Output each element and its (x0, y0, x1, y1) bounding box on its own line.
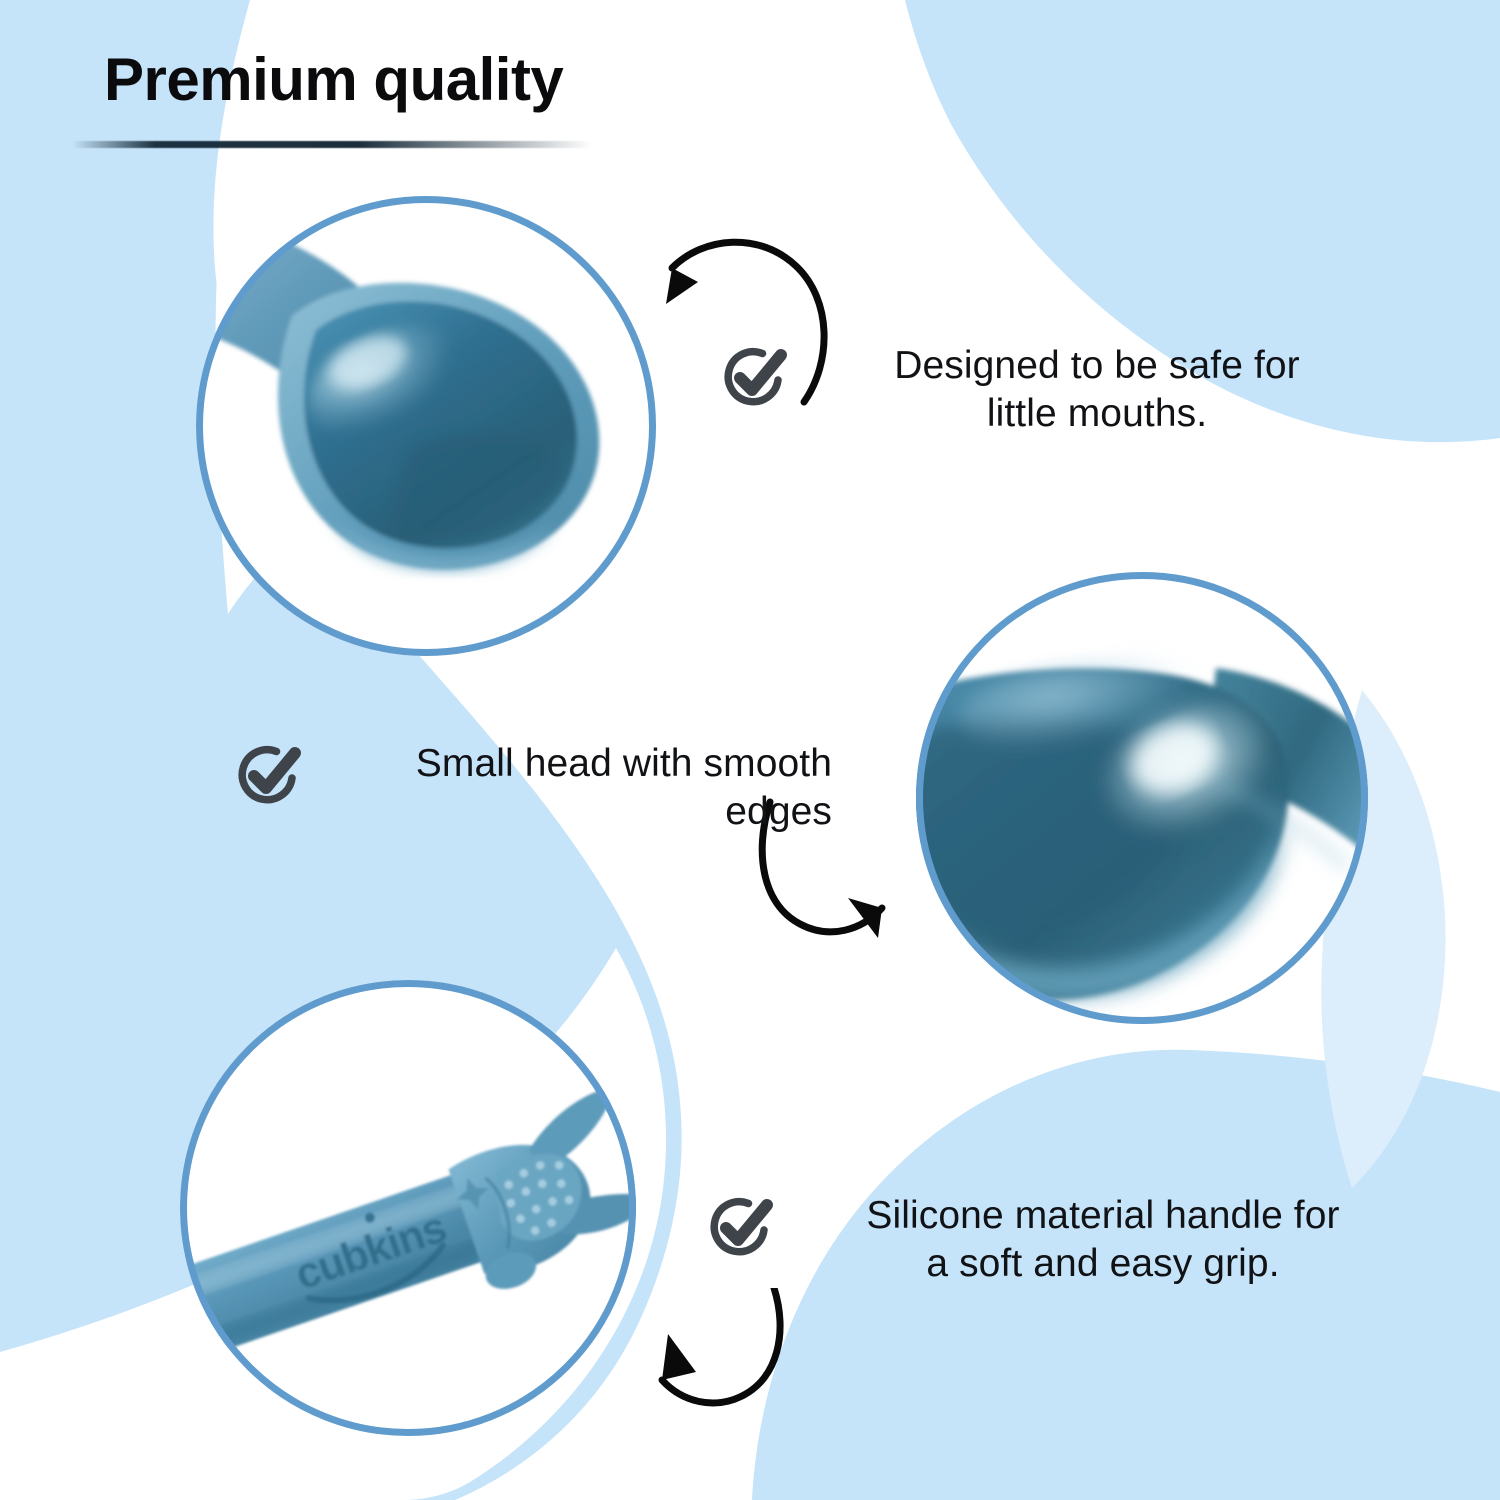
check-circle-icon (718, 340, 790, 412)
feature-3-line-1: Silicone material handle for (802, 1192, 1404, 1240)
spoon-bowl-interior-photo (916, 572, 1368, 1024)
arrow-to-photo-3 (628, 1288, 798, 1428)
check-circle-icon (704, 1190, 776, 1262)
title-underline (72, 141, 592, 148)
feature-2-line-1: Small head with smooth (330, 740, 832, 788)
feature-item-silicone-handle-soft-grip: Silicone material handle for a soft and … (704, 1190, 1404, 1287)
feature-1-line-1: Designed to be safe for (816, 342, 1378, 390)
feature-item-safe-for-little-mouths: Designed to be safe for little mouths. (718, 340, 1378, 437)
spoon-handle-photo: cubkins (180, 980, 636, 1436)
infographic-canvas: Premium quality (0, 0, 1500, 1500)
feature-3-line-2: a soft and easy grip. (802, 1240, 1404, 1288)
page-title: Premium quality (104, 48, 563, 111)
feature-1-line-2: little mouths. (816, 390, 1378, 438)
spoon-head-closeup-photo (196, 196, 656, 656)
feature-item-small-head-smooth-edges: Small head with smooth edges (232, 738, 832, 835)
feature-2-line-2: edges (330, 788, 832, 836)
check-circle-icon (232, 738, 304, 810)
